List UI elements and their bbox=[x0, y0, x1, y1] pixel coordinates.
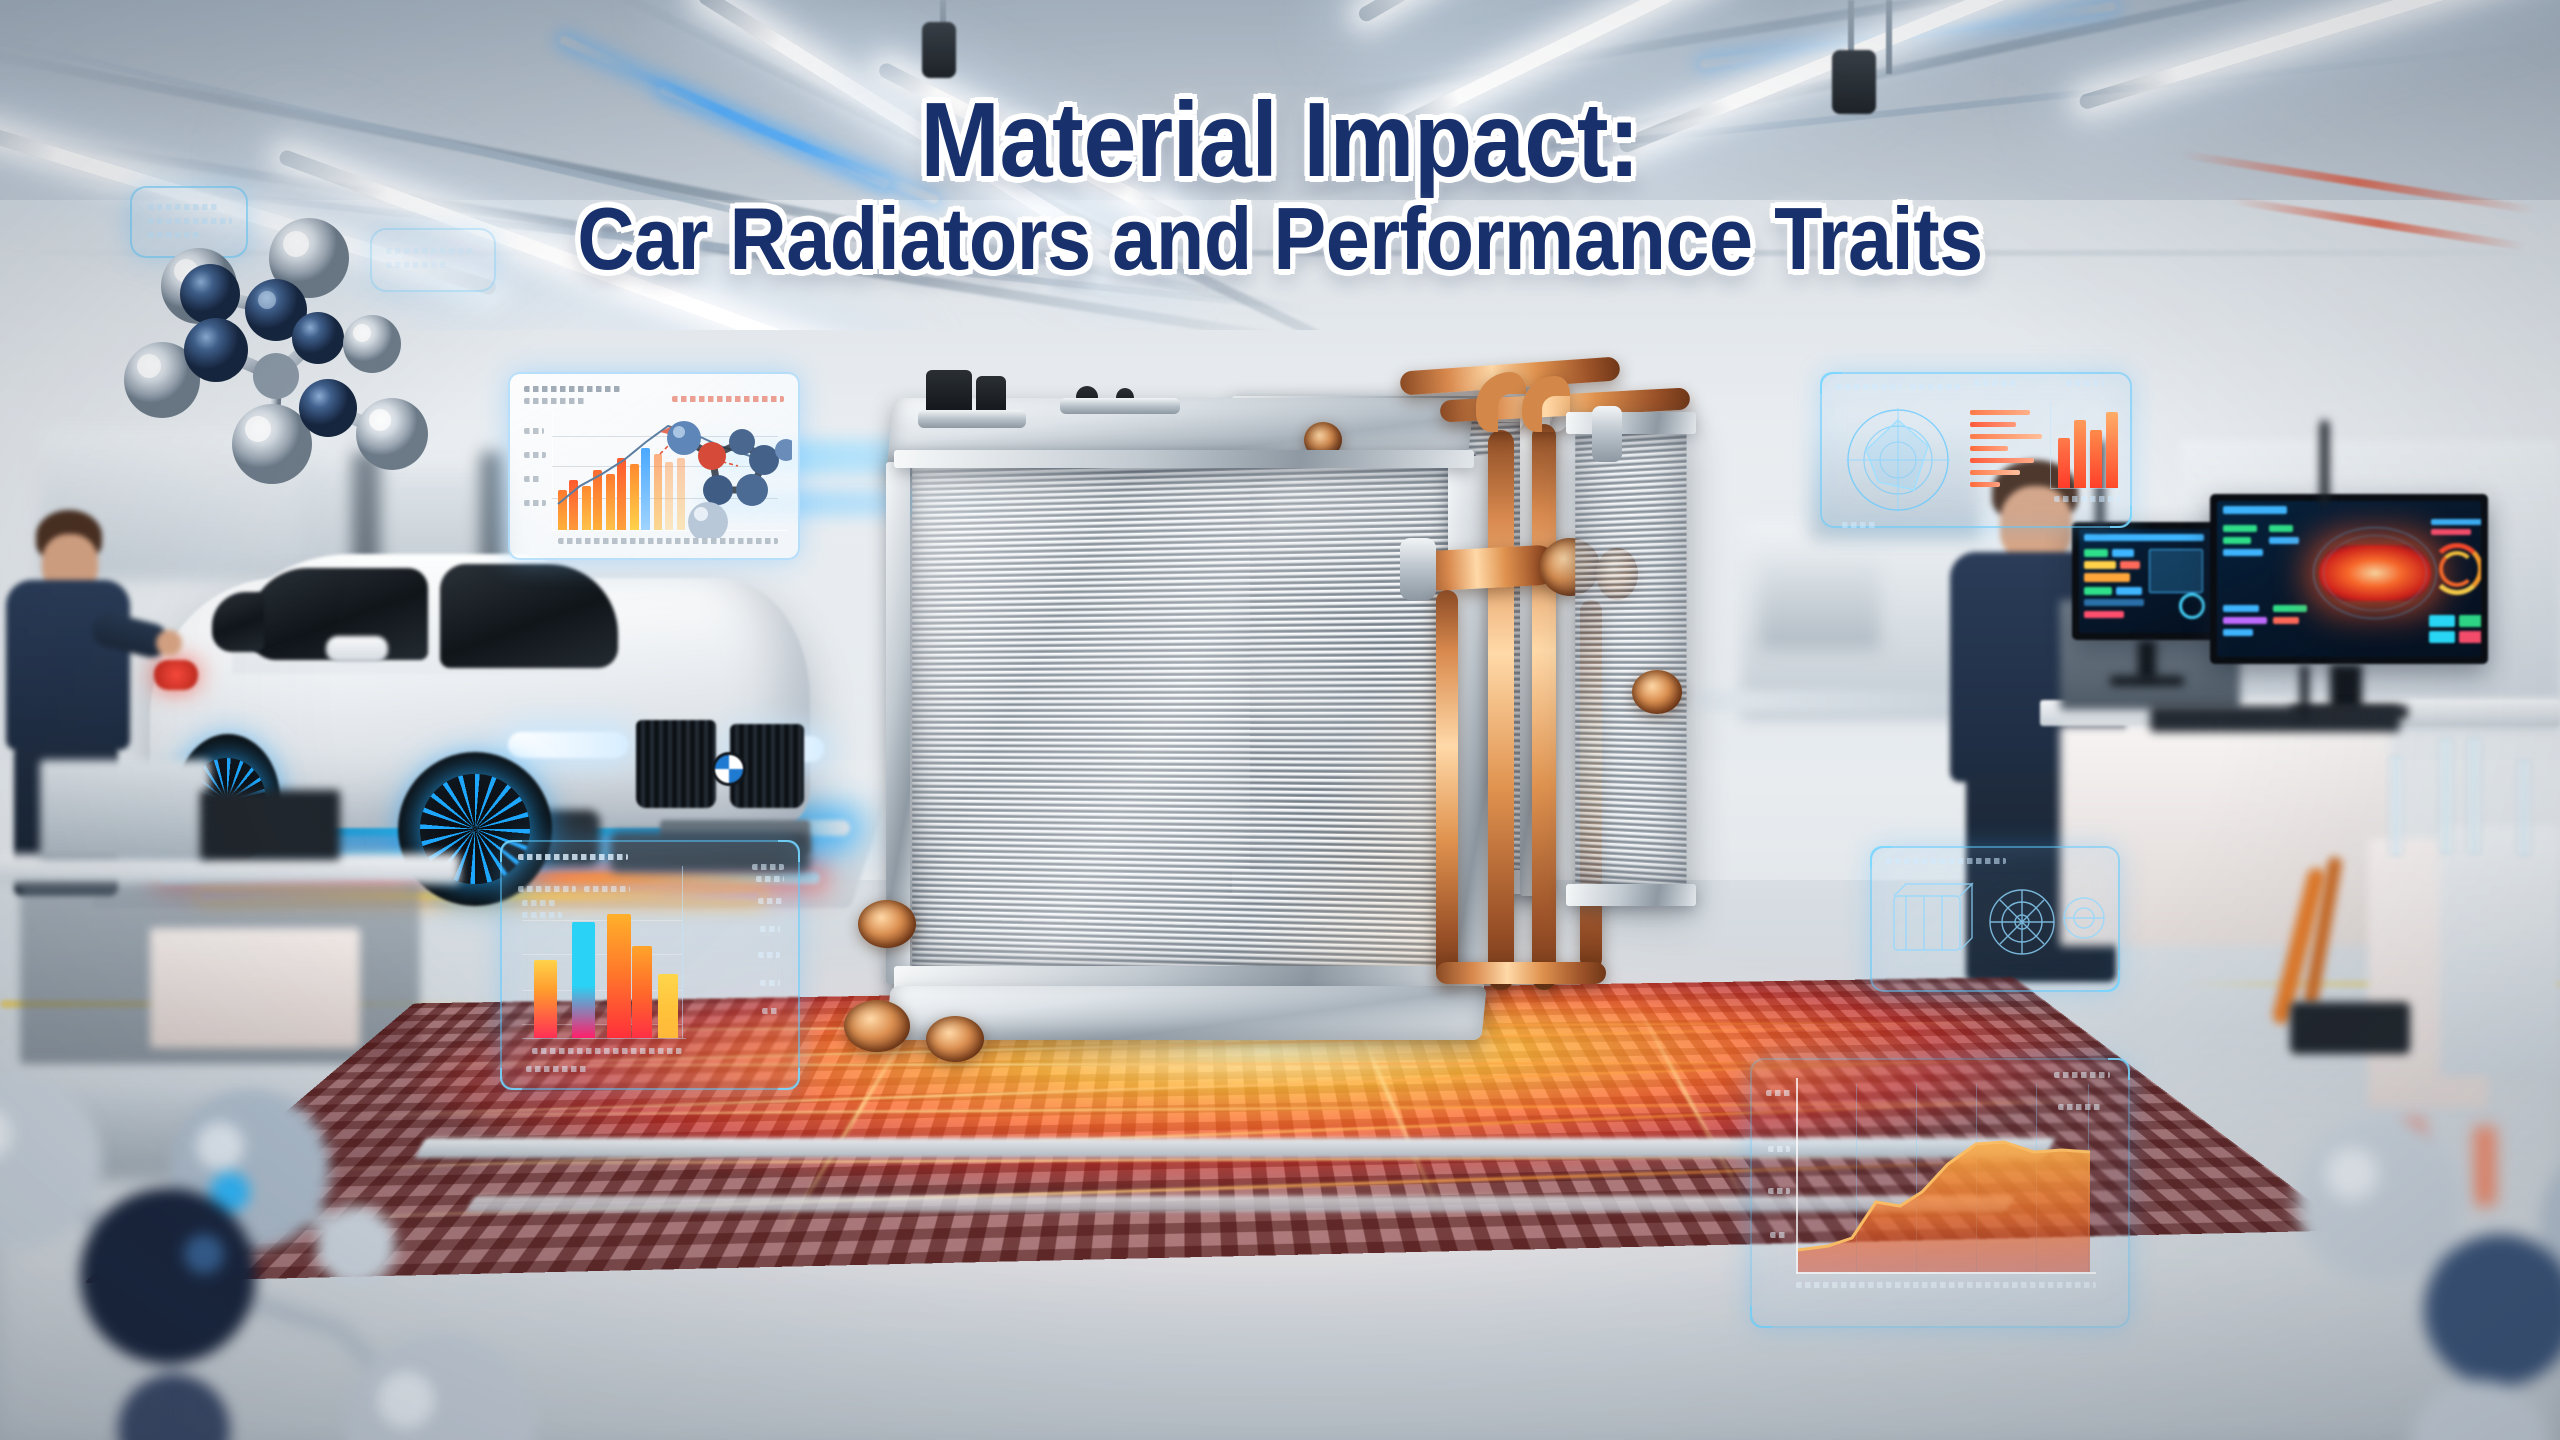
bar bbox=[2106, 412, 2118, 488]
car-radiator bbox=[880, 370, 1720, 1070]
molecule-foreground-bottom-right bbox=[2280, 1080, 2560, 1440]
thermal-xlabels-ghost bbox=[1796, 1282, 2096, 1288]
vehicle-taillight bbox=[154, 660, 198, 690]
test-tube bbox=[2516, 760, 2532, 856]
bar bbox=[632, 946, 652, 1038]
poster-canvas: Material Impact: Car Radiators and Perfo… bbox=[0, 0, 2560, 1440]
radar-panel-title-ghost bbox=[1836, 384, 1902, 390]
bar bbox=[534, 960, 557, 1038]
panel-material-line[interactable] bbox=[508, 372, 800, 560]
monitor-large[interactable] bbox=[2210, 494, 2488, 664]
bar-panel-subtitle-ghost bbox=[518, 886, 576, 892]
poster-title-block: Material Impact: Car Radiators and Perfo… bbox=[0, 86, 2560, 284]
title-line-2: Car Radiators and Performance Traits bbox=[128, 194, 2432, 284]
radiator-outlet-port[interactable] bbox=[844, 1000, 910, 1052]
hbar bbox=[1970, 422, 2016, 427]
bar bbox=[2090, 430, 2102, 488]
component-schematic bbox=[1872, 874, 2122, 984]
copper-pipe bbox=[1488, 430, 1514, 990]
hbar bbox=[1970, 470, 2020, 475]
hbar bbox=[1970, 446, 2008, 451]
panel-schematic[interactable] bbox=[1870, 846, 2120, 992]
hbar bbox=[1970, 434, 2042, 439]
monitor-large-screen bbox=[2217, 501, 2481, 657]
bar-panel-title-ghost bbox=[518, 854, 628, 860]
copper-inlet-spout bbox=[1417, 544, 1559, 591]
test-tube bbox=[2466, 738, 2482, 854]
monitor-small[interactable] bbox=[2072, 522, 2224, 640]
bar bbox=[2074, 420, 2086, 488]
panel-radar-metrics[interactable] bbox=[1820, 372, 2132, 528]
title-line-1: Material Impact: bbox=[128, 86, 2432, 194]
radiator-outlet-port[interactable] bbox=[858, 900, 916, 948]
bar bbox=[658, 974, 678, 1038]
panel-xaxis-ghost bbox=[558, 538, 778, 544]
hbar bbox=[1970, 410, 2030, 415]
panel-thermal-trend[interactable] bbox=[1750, 1058, 2130, 1328]
copper-pipe bbox=[1436, 590, 1458, 980]
molecule-foreground-bottom-left bbox=[0, 1030, 560, 1440]
hbar bbox=[1970, 482, 2000, 487]
molecule-in-hud bbox=[646, 398, 792, 538]
vehicle-grille bbox=[636, 720, 716, 808]
copper-pipe bbox=[1436, 962, 1606, 984]
hbar bbox=[1970, 458, 2034, 463]
vehicle-badge bbox=[712, 752, 746, 786]
thermal-area-chart bbox=[1752, 1060, 2132, 1330]
radar-chart bbox=[1840, 402, 1956, 518]
bar bbox=[2058, 438, 2070, 488]
copper-pipe bbox=[1532, 424, 1556, 990]
test-tube bbox=[2438, 738, 2454, 854]
radiator-outlet-port[interactable] bbox=[926, 1016, 984, 1062]
bar bbox=[607, 914, 631, 1038]
monitor-small-screen bbox=[2079, 529, 2217, 633]
bar bbox=[572, 922, 595, 1038]
test-tube bbox=[2388, 756, 2404, 856]
radiator-fin-core bbox=[912, 451, 1476, 988]
schematic-title-ghost bbox=[1886, 858, 2006, 864]
keyboard bbox=[2150, 706, 2400, 732]
vehicle-headlight bbox=[508, 732, 628, 758]
